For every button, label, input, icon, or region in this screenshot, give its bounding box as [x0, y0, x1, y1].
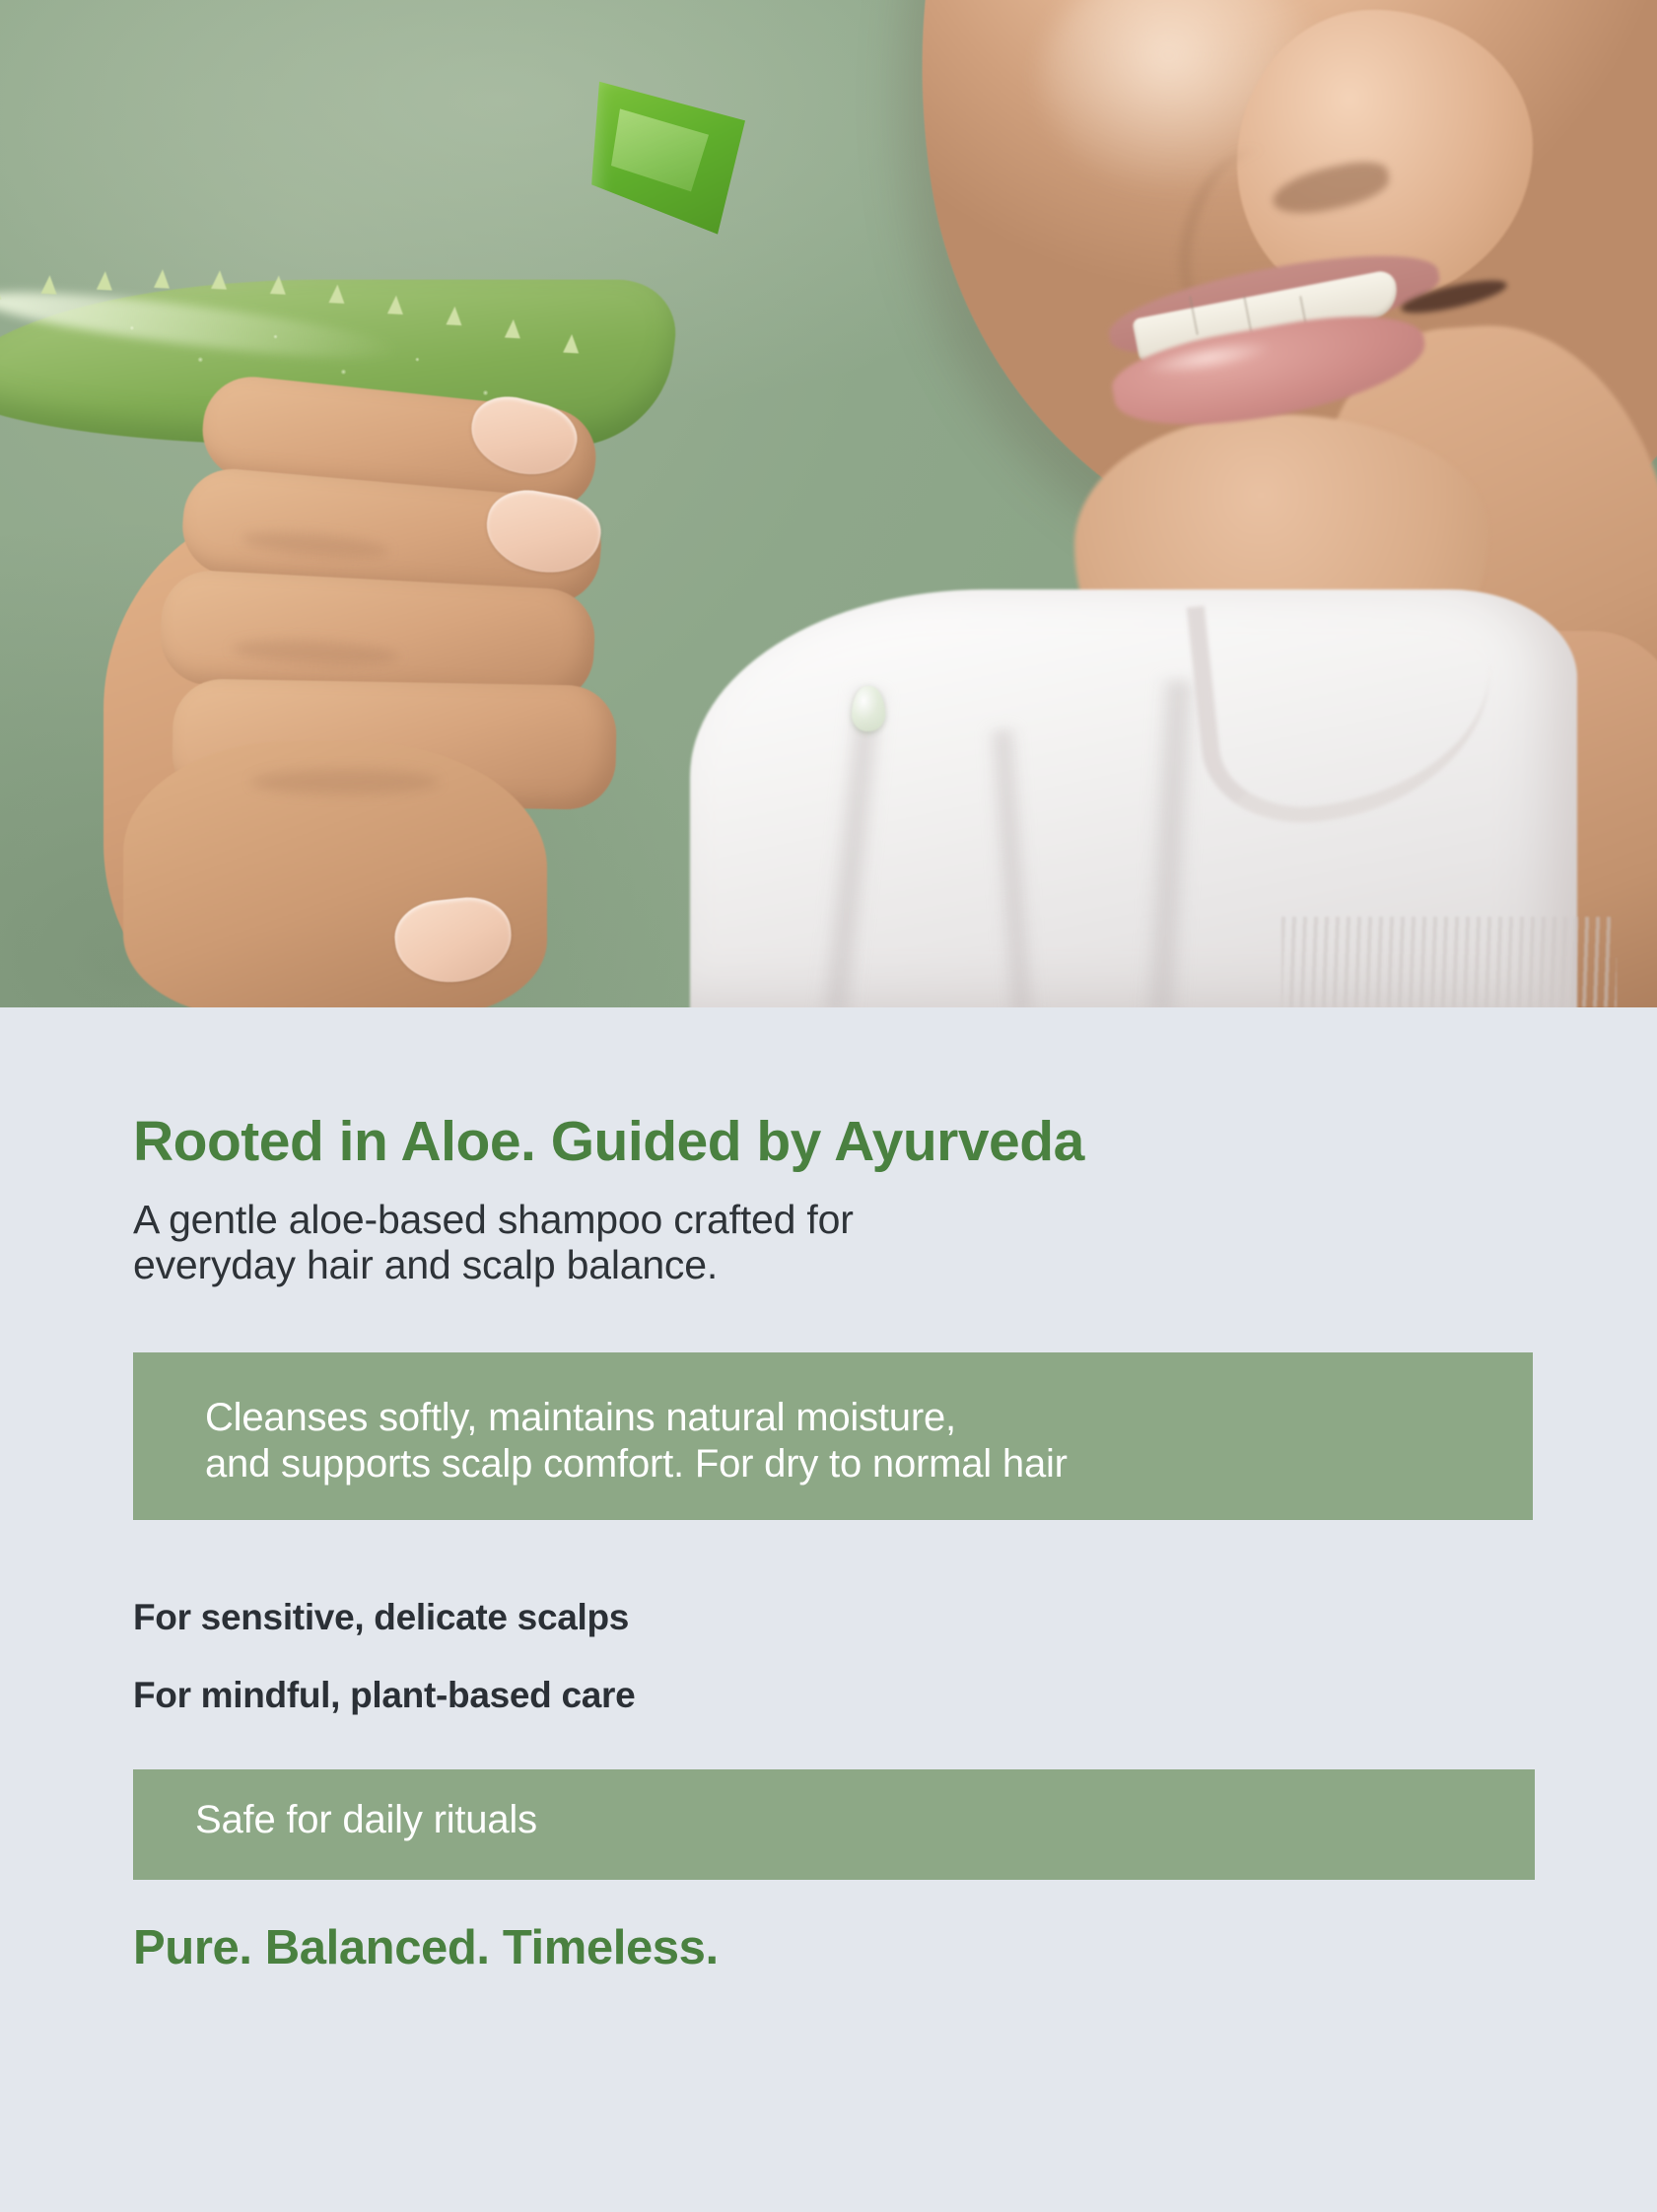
subtitle: A gentle aloe-based shampoo crafted for … [133, 1198, 1296, 1288]
page-title: Rooted in Aloe. Guided by Ayurveda [133, 1112, 1513, 1173]
brand-tagline: Pure. Balanced. Timeless. [133, 1920, 1415, 1975]
product-card: Rooted in Aloe. Guided by Ayurveda A gen… [0, 0, 1657, 2212]
aloe-gel-droplet [852, 686, 885, 731]
highlight-box-secondary-text: Safe for daily rituals [195, 1797, 1477, 1843]
subtitle-line-1: A gentle aloe-based shampoo crafted for [133, 1197, 854, 1242]
highlight-line-2: and supports scalp comfort. For dry to n… [205, 1442, 1068, 1486]
shirt-collar-ribbing [1281, 917, 1617, 1007]
hero-photo [0, 0, 1657, 1007]
highlight-box-primary-text: Cleanses softly, maintains natural moist… [205, 1395, 1506, 1487]
subtitle-line-2: everyday hair and scalp balance. [133, 1242, 718, 1287]
benefit-item-1: For sensitive, delicate scalps [133, 1597, 1415, 1638]
knuckle-crease [251, 769, 439, 795]
benefit-item-2: For mindful, plant-based care [133, 1675, 1415, 1716]
highlight-line-1: Cleanses softly, maintains natural moist… [205, 1396, 956, 1439]
hand-holding-leaf [84, 386, 715, 1007]
